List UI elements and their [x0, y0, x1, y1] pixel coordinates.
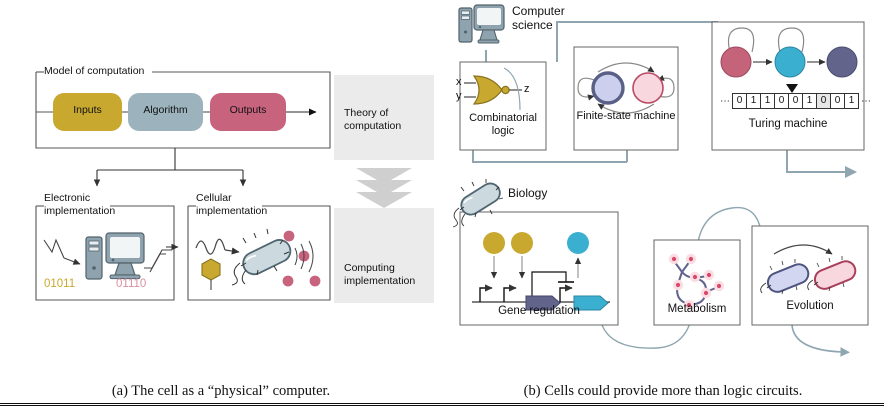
bio-flow-out-arrow: [792, 325, 842, 352]
gene-input-protein-2: [511, 232, 533, 254]
electronic-input-signal: [44, 240, 64, 258]
fsm-state-2: [633, 73, 663, 103]
monitor-stand: [115, 263, 135, 275]
bacterium-flagellum-2: [242, 270, 246, 284]
tower-slot-2: [89, 247, 99, 251]
label-gene-regulation: Gene regulation: [460, 305, 618, 317]
panel-a-cell-as-physical-computer: Model of computation Inputs Algorithm Ou…: [0, 0, 442, 370]
gate-input-label-y: y: [456, 90, 462, 102]
signal-dot-4: [310, 276, 321, 287]
panel-a-canvas: [0, 0, 442, 370]
tape-cell: 0: [789, 93, 803, 109]
panel-b-cells-beyond-logic-circuits: Computer science Combinatorial logic Fin…: [442, 0, 884, 370]
wave-arrow: [225, 250, 239, 252]
cs-monitor-led: [479, 26, 481, 28]
sidebar-label-theory: Theory of computation: [344, 107, 430, 132]
cs-flow-out-arrow: [787, 150, 847, 172]
nor-gate-bubble-icon: [502, 86, 509, 93]
fsm-state-1: [593, 73, 623, 103]
tm-state-1: [721, 47, 751, 77]
label-turing-machine: Turing machine: [712, 118, 864, 130]
chevron-down-icon-3: [356, 192, 412, 208]
cs-monitor-screen: [477, 8, 501, 25]
sidebar-label-implementation: Computing implementation: [344, 262, 430, 287]
cs-tower-slot-2: [462, 16, 470, 19]
tape-cell: 0: [831, 93, 845, 109]
electronic-implementation-label: Electronic implementation: [44, 192, 116, 217]
model-box-label: Model of computation: [44, 65, 144, 77]
hexagon-molecule-icon: [202, 259, 220, 280]
signal-arc-1: [295, 248, 297, 265]
bacterium-flagellum: [232, 263, 240, 285]
electronic-input-bits: 01011: [44, 278, 75, 290]
electronic-input-arrow: [64, 258, 80, 264]
pipeline-label-outputs: Outputs: [210, 104, 286, 116]
label-combinatorial-logic: Combinatorial logic: [460, 112, 546, 138]
pipeline-label-algorithm: Algorithm: [128, 104, 203, 116]
turing-tape: ⋯011001001⋯: [718, 93, 873, 109]
cs-monitor-base: [478, 40, 499, 43]
tape-ellipsis-left: ⋯: [718, 96, 732, 107]
bio-flagellum: [453, 208, 459, 227]
tape-ellipsis-right: ⋯: [859, 96, 873, 107]
sidebar-block-implementation: [334, 208, 434, 303]
tape-cell: 0: [775, 93, 789, 109]
heading-biology: Biology: [508, 186, 547, 200]
tm-state-2: [775, 47, 805, 77]
bacterium-icon: [240, 236, 295, 278]
caption-panel-b: (b) Cells could provide more than logic …: [442, 383, 884, 400]
cs-monitor-stand: [480, 30, 497, 40]
tape-cell: 1: [747, 93, 761, 109]
tower-power-icon: [92, 266, 96, 270]
label-finite-state-machine: Finite-state machine: [574, 110, 678, 123]
signal-dot-1: [284, 231, 295, 242]
figure-root: Model of computation Inputs Algorithm Ou…: [0, 0, 884, 406]
tape-cell: 1: [761, 93, 775, 109]
connector-logic-to-fsm: [473, 150, 627, 162]
caption-panel-a: (a) The cell as a “physical” computer.: [0, 383, 442, 400]
tm-state-3: [827, 47, 857, 77]
pipeline-label-inputs: Inputs: [53, 104, 122, 116]
tape-cell: 1: [845, 93, 859, 109]
gate-output-label-z: z: [524, 83, 530, 95]
electronic-output-signal: [144, 250, 172, 268]
label-metabolism: Metabolism: [654, 303, 740, 315]
cs-tower-power-icon: [464, 31, 467, 34]
tape-cell: 0: [817, 93, 831, 109]
monitor-screen: [110, 237, 140, 258]
wave-signal-icon: [196, 239, 225, 254]
signal-arc-3: [309, 241, 313, 272]
cs-tower-slot-1: [462, 11, 470, 14]
heading-computer-science: Computer science: [512, 4, 584, 32]
cellular-implementation-label: Cellular implementation: [196, 192, 266, 217]
electronic-output-bits: 01110: [116, 278, 146, 290]
page-rule: [0, 403, 884, 404]
gene-input-protein-1: [483, 232, 505, 254]
tower-slot-1: [89, 241, 99, 245]
tape-cell: 0: [732, 93, 747, 109]
monitor-led: [112, 259, 115, 262]
label-evolution: Evolution: [752, 300, 868, 312]
tape-cell: 1: [803, 93, 817, 109]
signal-dot-3: [283, 276, 294, 287]
electronic-output-signal-2: [150, 254, 166, 272]
gene-output-protein: [567, 232, 589, 254]
gate-input-label-x: x: [456, 76, 462, 88]
